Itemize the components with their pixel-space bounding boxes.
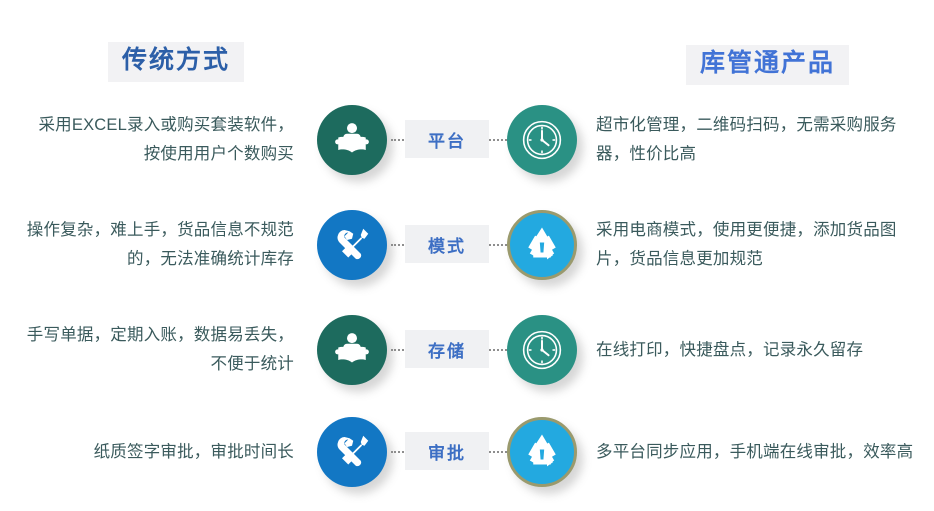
recycle-icon	[507, 417, 577, 487]
row-left-text: 采用EXCEL录入或购买套装软件，按使用用户个数购买	[22, 111, 294, 169]
row-left-text: 手写单据，定期入账，数据易丢失，不便于统计	[22, 321, 294, 379]
page-title-traditional: 传统方式	[108, 42, 244, 82]
page-title-product: 库管通产品	[686, 45, 849, 85]
row-label-chip: 审批	[405, 432, 489, 470]
wrench-screwdriver-icon	[317, 417, 387, 487]
row-label-chip: 存储	[405, 330, 489, 368]
row-right-text: 超市化管理，二维码扫码，无需采购服务器，性价比高	[596, 111, 916, 169]
comparison-row: 纸质签字审批，审批时间长 审批 多	[0, 404, 934, 500]
comparison-row: 手写单据，定期入账，数据易丢失，不便于统计 存储	[0, 302, 934, 398]
clock-icon	[507, 105, 577, 175]
connector-line-right	[489, 244, 507, 246]
person-reading-book-icon	[317, 315, 387, 385]
comparison-row: 采用EXCEL录入或购买套装软件，按使用用户个数购买 平台	[0, 92, 934, 188]
row-label-chip: 模式	[405, 225, 489, 263]
row-right-text: 多平台同步应用，手机端在线审批，效率高	[596, 438, 916, 467]
connector-line-right	[489, 451, 507, 453]
clock-icon	[507, 315, 577, 385]
comparison-slide: 传统方式 库管通产品 采用EXCEL录入或购买套装软件，按使用用户个数购买 平台	[0, 0, 934, 511]
connector-line-right	[489, 349, 507, 351]
row-right-text: 在线打印，快捷盘点，记录永久留存	[596, 336, 916, 365]
row-right-text: 采用电商模式，使用更便捷，添加货品图片，货品信息更加规范	[596, 216, 916, 274]
connector-line-right	[489, 139, 507, 141]
row-label-chip: 平台	[405, 120, 489, 158]
wrench-screwdriver-icon	[317, 210, 387, 280]
comparison-row: 操作复杂，难上手，货品信息不规范的，无法准确统计库存 模式	[0, 197, 934, 293]
row-left-text: 纸质签字审批，审批时间长	[22, 438, 294, 467]
person-reading-book-icon	[317, 105, 387, 175]
row-left-text: 操作复杂，难上手，货品信息不规范的，无法准确统计库存	[22, 216, 294, 274]
recycle-icon	[507, 210, 577, 280]
